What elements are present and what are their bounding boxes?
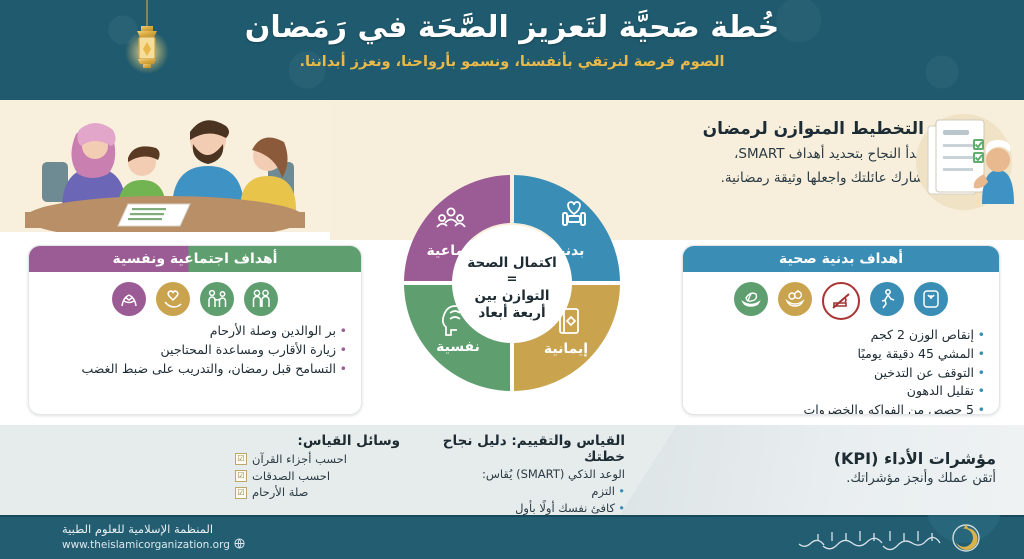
card-physical-title: أهداف بدنية صحية	[779, 251, 903, 267]
family-at-table-illustration	[0, 100, 330, 240]
list-item: بر الوالدين وصلة الأرحام	[43, 322, 347, 341]
no-smoking-icon	[822, 282, 860, 320]
evaluation-subtitle: الوعد الذكي (SMART) يُقاس:	[415, 466, 625, 483]
header-banner: خُطة صَحيَّة لتَعزيز الصَّحَة في رَمَضان…	[0, 0, 1024, 100]
card-social-icon-row	[29, 272, 361, 320]
card-physical-bullets: إنقاص الوزن 2 كجم المشي 45 دقيقة يوميًا …	[683, 324, 999, 415]
card-physical-goals: أهداف بدنية صحية	[682, 245, 1000, 415]
logo-calligraphy	[799, 531, 940, 550]
list-item: التسامح قبل رمضان، والتدريب على ضبط الغض…	[43, 360, 347, 379]
measurement-item-label: احسب الصدقات	[252, 468, 330, 485]
wheel-center-line-1: اكتمال الصحة	[467, 255, 556, 271]
measurement-item-label: صلة الأرحام	[252, 484, 308, 501]
kpi-subtitle: أتقن عملك وأنجز مؤشراتك.	[834, 471, 996, 486]
card-physical-icon-row	[683, 272, 999, 324]
footer-url-row[interactable]: www.theislamicorganization.org	[62, 538, 245, 552]
card-social-header: أهداف اجتماعية ونفسية	[29, 246, 361, 272]
wheel-center-line-3: التوازن بين	[474, 288, 549, 304]
list-item: زيارة الأقارب ومساعدة المحتاجين	[43, 341, 347, 360]
helping-hand-icon	[200, 282, 234, 316]
logo-emblem	[953, 524, 979, 551]
crescent-moon-icon	[83, 22, 117, 90]
plan-title: التخطيط المتوازن لرمضان	[624, 118, 924, 140]
checklist-item[interactable]: احسب أجزاء القرآن ☑	[235, 451, 400, 468]
card-social-goals: أهداف اجتماعية ونفسية	[28, 245, 362, 415]
checkbox-icon[interactable]: ☑	[235, 487, 247, 499]
lantern-icon	[125, 26, 169, 74]
wheel-label-nafsiyah: نفسية	[436, 339, 480, 355]
list-item: التزم	[415, 483, 625, 500]
footer-bar: المنظمة الإسلامية للعلوم الطبية www.thei…	[0, 515, 1024, 559]
list-item: إنقاص الوزن 2 كجم	[697, 326, 985, 345]
evaluation-title: القياس والتقييم: دليل نجاح خطتك	[415, 433, 625, 465]
list-item: التوقف عن التدخين	[697, 364, 985, 383]
wheel-label-imaniyah: إيمانية	[544, 341, 588, 357]
list-item: تقليل الدهون	[697, 382, 985, 401]
wheel-center-line-4: أربعة أبعاد	[478, 304, 545, 321]
praying-hands-icon	[112, 282, 146, 316]
list-item: 5 حصص من الفواكه والخضروات	[697, 401, 985, 415]
globe-icon	[234, 538, 245, 552]
crescent-lantern-decoration	[55, 0, 185, 100]
wheel-center-line-2: =	[507, 272, 518, 287]
heart-in-hand-icon	[156, 282, 190, 316]
card-physical-header: أهداف بدنية صحية	[683, 246, 999, 272]
man-with-checklist-illustration	[910, 108, 1018, 216]
measurement-title: وسائل القياس:	[235, 433, 400, 449]
measurement-item-label: احسب أجزاء القرآن	[252, 451, 347, 468]
card-social-bullets: بر الوالدين وصلة الأرحام زيارة الأقارب و…	[29, 320, 361, 378]
evaluation-block: القياس والتقييم: دليل نجاح خطتك الوعد ال…	[415, 433, 625, 517]
fruits-bowl-icon	[778, 282, 812, 316]
family-icon	[244, 282, 278, 316]
infographic-poster: خُطة صَحيَّة لتَعزيز الصَّحَة في رَمَضان…	[0, 0, 1024, 559]
footer-url-text: www.theislamicorganization.org	[62, 539, 230, 551]
vegetables-icon	[734, 282, 768, 316]
weight-scale-icon	[914, 282, 948, 316]
measurement-block: وسائل القياس: احسب أجزاء القرآن ☑ احسب ا…	[235, 433, 400, 501]
plan-line-1: يبدأ النجاح بتحديد أهداف SMART،	[624, 144, 924, 164]
kpi-panel: مؤشرات الأداء (KPI) أتقن عملك وأنجز مؤشر…	[620, 425, 1024, 515]
checkbox-icon[interactable]: ☑	[235, 453, 247, 465]
plan-line-2: شارك عائلتك واجعلها وثيقة رمضانية.	[624, 168, 924, 188]
health-balance-wheel: بدنية إيمانية	[383, 168, 641, 398]
checklist-item[interactable]: صلة الأرحام ☑	[235, 484, 400, 501]
card-social-title: أهداف اجتماعية ونفسية	[113, 251, 278, 267]
checklist-paper	[118, 204, 190, 226]
checkbox-icon[interactable]: ☑	[235, 470, 247, 482]
checklist-item[interactable]: احسب الصدقات ☑	[235, 468, 400, 485]
evaluation-bullets: التزم كافئ نفسك أولًا بأول	[415, 483, 625, 518]
plan-block: التخطيط المتوازن لرمضان يبدأ النجاح بتحد…	[624, 118, 924, 189]
walking-person-icon	[870, 282, 904, 316]
kpi-title: مؤشرات الأداء (KPI)	[834, 449, 996, 468]
list-item: المشي 45 دقيقة يوميًا	[697, 345, 985, 364]
islamic-organization-calligraphy-logo	[754, 519, 1004, 557]
